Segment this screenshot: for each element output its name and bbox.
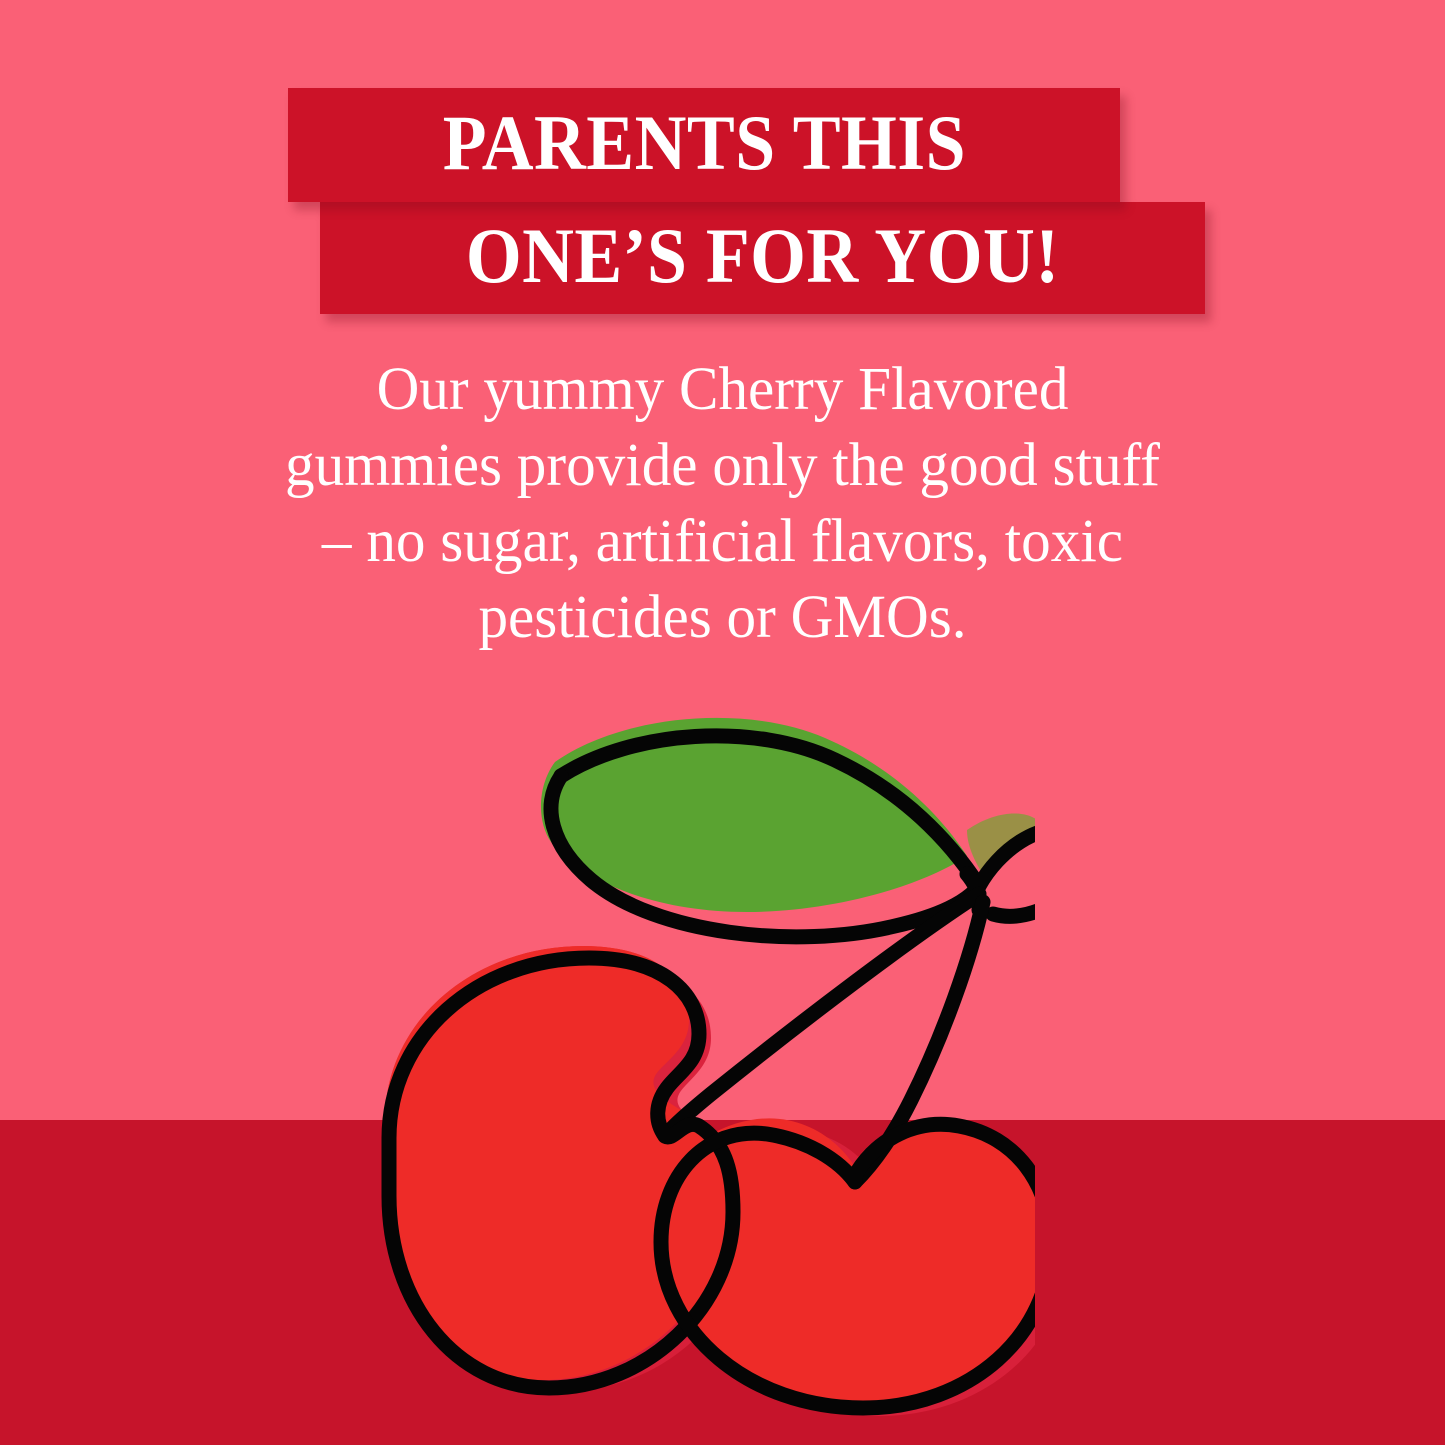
body-line-3: – no sugar, artificial flavors, toxic: [114, 504, 1331, 580]
headline-banner-line-2: ONE’S FOR YOU!: [320, 202, 1205, 314]
promo-poster: PARENTS THIS ONE’S FOR YOU! Our yummy Ch…: [0, 0, 1445, 1445]
headline-text-line-2: ONE’S FOR YOU!: [466, 217, 1060, 295]
body-line-1: Our yummy Cherry Flavored: [114, 352, 1331, 428]
headline-text-line-1: PARENTS THIS: [442, 104, 965, 182]
cherries-illustration: [355, 690, 1035, 1420]
headline-banner-line-1: PARENTS THIS: [288, 88, 1120, 202]
body-paragraph: Our yummy Cherry Flavored gummies provid…: [95, 352, 1350, 656]
body-line-2: gummies provide only the good stuff: [114, 428, 1331, 504]
body-line-4: pesticides or GMOs.: [114, 580, 1331, 656]
